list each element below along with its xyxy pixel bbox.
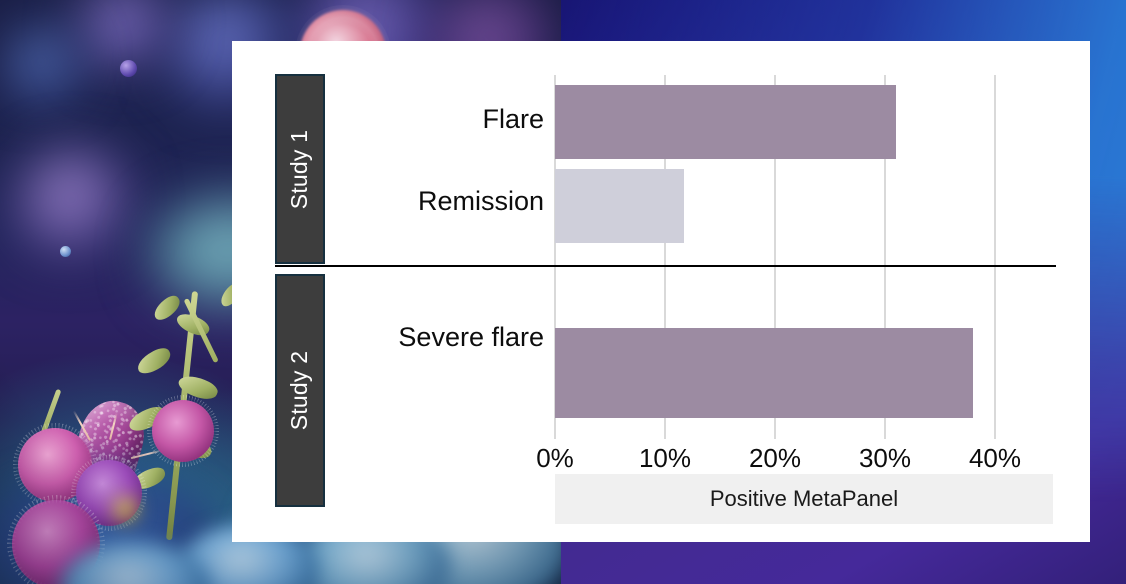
category-label-flare: Flare <box>332 103 544 135</box>
axis-title-text: Positive MetaPanel <box>710 486 898 512</box>
group-label-text: Study 2 <box>287 351 314 430</box>
group-label-text: Study 1 <box>287 129 314 208</box>
chart-card: Study 1 Study 2 Flare Remission Severe f… <box>232 41 1090 542</box>
category-label-flare-wrap: Flare <box>332 103 544 135</box>
xtick-20: 20% <box>749 443 801 474</box>
bar-flare <box>555 85 896 159</box>
xtick-30: 30% <box>859 443 911 474</box>
xtick-10: 10% <box>639 443 691 474</box>
category-label-remission-wrap: Remission <box>332 185 544 217</box>
xtick-40: 40% <box>969 443 1021 474</box>
bar-remission <box>555 169 684 243</box>
group-label-study-1: Study 1 <box>275 74 325 264</box>
category-label-severe-flare-wrap: Severe flare <box>332 321 544 353</box>
group-separator-line <box>275 265 1056 267</box>
axis-title-band: Positive MetaPanel <box>555 474 1053 524</box>
bar-severe-flare <box>555 328 973 418</box>
xtick-0: 0% <box>536 443 574 474</box>
category-label-severe-flare: Severe flare <box>394 321 544 353</box>
category-label-remission: Remission <box>332 185 544 217</box>
bar-chart: Study 1 Study 2 Flare Remission Severe f… <box>232 41 1090 542</box>
gridline-40 <box>994 75 996 439</box>
group-label-study-2: Study 2 <box>275 274 325 507</box>
screenshot-root: Study 1 Study 2 Flare Remission Severe f… <box>0 0 1126 584</box>
